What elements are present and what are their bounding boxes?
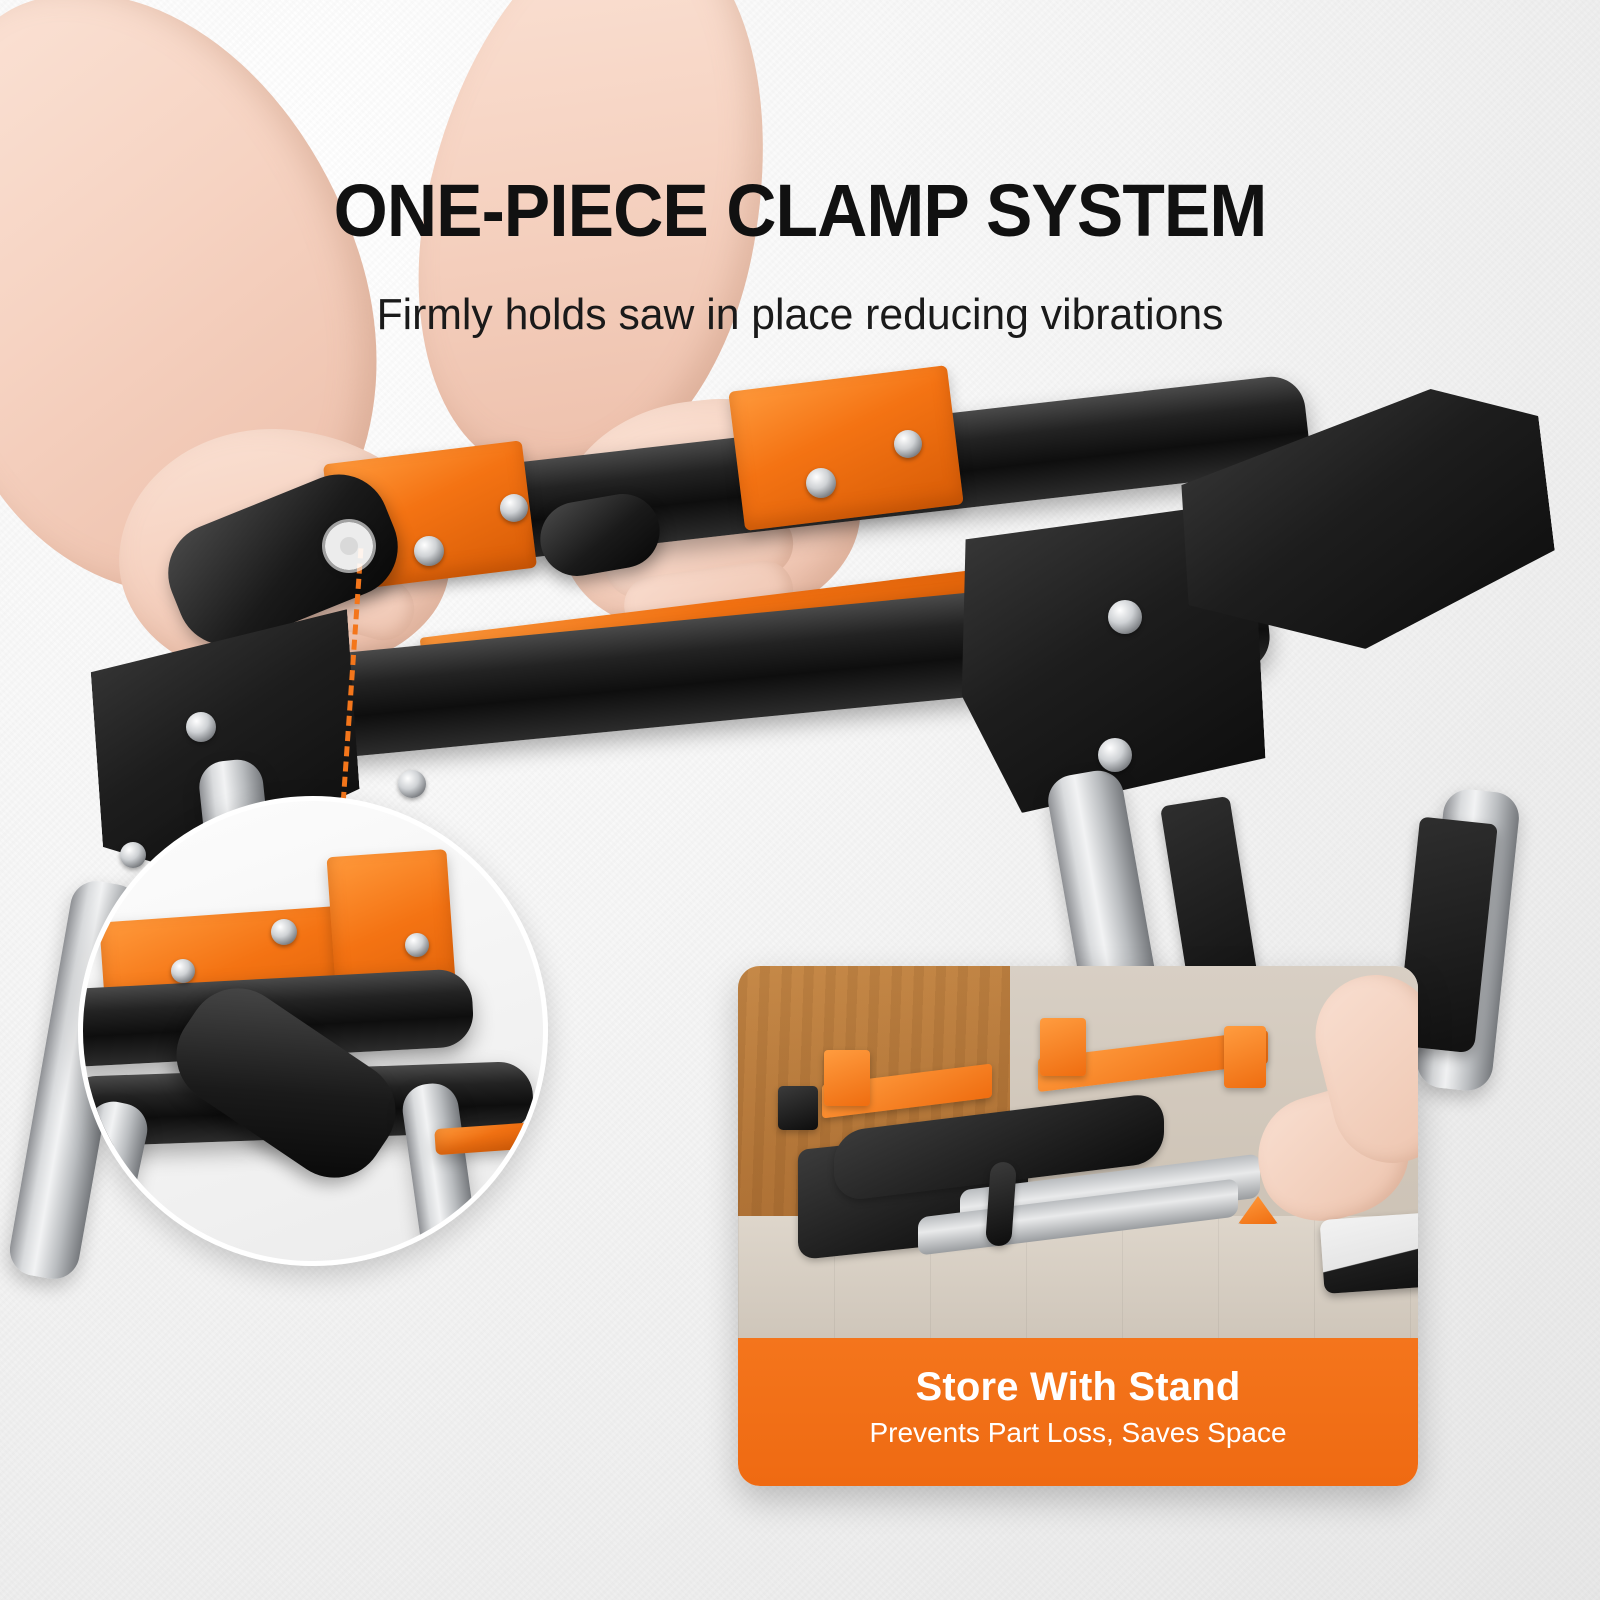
bolt	[500, 494, 528, 522]
store-with-stand-banner: Store With Stand Prevents Part Loss, Sav…	[738, 1338, 1418, 1486]
folded-clamp-jaw-end	[1224, 1026, 1266, 1088]
product-feature-image: ONE-PIECE CLAMP SYSTEM Firmly holds saw …	[0, 0, 1600, 1600]
page-subtitle: Firmly holds saw in place reducing vibra…	[24, 288, 1576, 342]
store-with-stand-photo	[738, 966, 1418, 1338]
store-with-stand-card: Store With Stand Prevents Part Loss, Sav…	[738, 966, 1418, 1486]
callout-marker-dot	[325, 522, 373, 570]
person-shoe	[1320, 1212, 1418, 1294]
bolt	[171, 959, 195, 983]
clamp-closeup-inset	[78, 796, 548, 1266]
store-card-title: Store With Stand	[738, 1364, 1418, 1410]
clamp-block-right	[728, 365, 963, 531]
folded-clamp-jaw-right	[1040, 1018, 1086, 1076]
folded-stand-bracket	[778, 1086, 818, 1130]
clamp-closeup-content	[83, 801, 543, 1261]
bolt	[806, 468, 836, 498]
bolt	[1098, 738, 1132, 772]
store-card-subtitle: Prevents Part Loss, Saves Space	[738, 1416, 1418, 1450]
bolt	[186, 712, 216, 742]
bolt	[405, 933, 429, 957]
bolt	[271, 919, 297, 945]
bolt	[1108, 600, 1142, 634]
page-title: ONE-PIECE CLAMP SYSTEM	[48, 168, 1552, 254]
bolt	[894, 430, 922, 458]
bolt	[398, 770, 426, 798]
bolt	[414, 536, 444, 566]
closeup-leg-left	[78, 1097, 152, 1266]
folded-clamp-jaw-left	[824, 1050, 870, 1106]
